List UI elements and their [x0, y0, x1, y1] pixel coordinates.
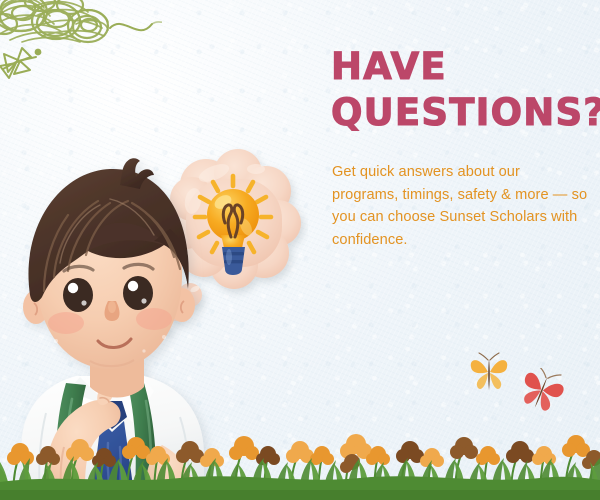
butterfly-yellow-icon — [468, 352, 510, 392]
headline-line-1: HAVE — [331, 45, 447, 88]
turf-shadow — [0, 490, 600, 500]
cheek-right — [136, 308, 172, 330]
doodle-dot — [35, 49, 42, 56]
cheek-left — [48, 312, 84, 334]
butterfly-red-icon — [518, 368, 566, 412]
grass-flower-band — [0, 412, 600, 500]
body-paragraph: Get quick answers about our programs, ti… — [332, 161, 590, 251]
scribble-cloud-doodle — [0, 0, 162, 105]
headline-line-2: QUESTIONS? — [331, 90, 593, 136]
text-column: HAVE QUESTIONS? Get quick answers about … — [331, 44, 593, 136]
poster-canvas: HAVE QUESTIONS? Get quick answers about … — [0, 0, 600, 500]
page-title: HAVE QUESTIONS? — [331, 44, 593, 136]
